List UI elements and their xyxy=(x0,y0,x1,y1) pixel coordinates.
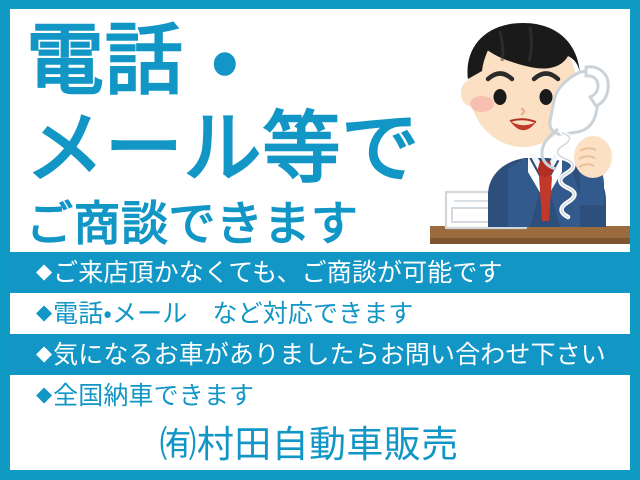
headline-block: 電話 ・ メール等で ご商談できます xyxy=(10,9,465,252)
diamond-bullet-icon: ◆ xyxy=(36,261,52,282)
headline-line-3: ご商談できます xyxy=(26,201,358,248)
diamond-bullet-icon: ◆ xyxy=(36,384,52,405)
bullet-row-text: 全国納車できます xyxy=(53,383,254,408)
banner-inner-panel: 電話 ・ メール等で ご商談できます xyxy=(10,9,630,470)
bullet-row: ◆ 全国納車できます xyxy=(10,375,630,416)
bullet-row-text: 気になるお車がありましたらお問い合わせ下さい xyxy=(53,342,606,367)
company-name: ㈲村田自動車販売 xyxy=(10,416,630,466)
headline-line-2: メール等で xyxy=(26,110,420,188)
bullet-row: ◆ ご来店頂かなくても、ご商談が可能です xyxy=(10,252,630,293)
diamond-bullet-icon: ◆ xyxy=(36,302,52,323)
bullet-row: ◆ 電話・メール など対応できます xyxy=(10,293,630,334)
bullet-row-list: ◆ ご来店頂かなくても、ご商談が可能です ◆ 電話・メール など対応できます ◆… xyxy=(10,252,630,470)
bullet-row: ◆ 気になるお車がありましたらお問い合わせ下さい xyxy=(10,334,630,375)
headline-line-1: 電話 ・ xyxy=(26,22,239,100)
bullet-row-text: ご来店頂かなくても、ご商談が可能です xyxy=(53,260,503,285)
advertisement-banner: 電話 ・ メール等で ご商談できます xyxy=(0,0,640,480)
diamond-bullet-icon: ◆ xyxy=(36,343,52,364)
bullet-row-text: 電話・メール など対応できます xyxy=(53,301,413,326)
